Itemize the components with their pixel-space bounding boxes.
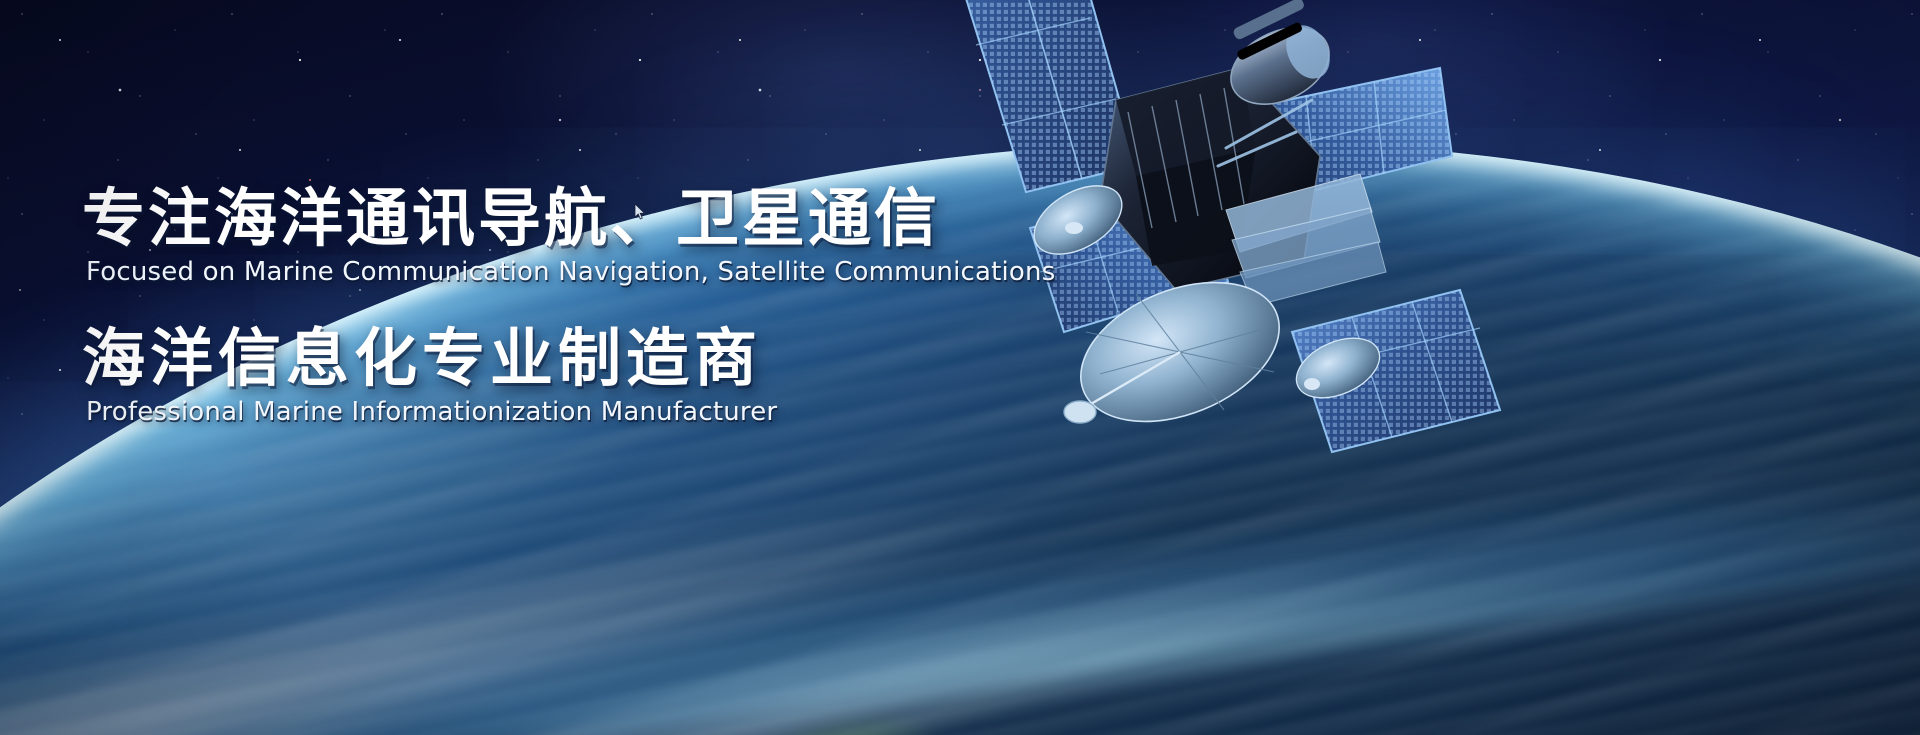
hero-banner: 专注海洋通讯导航、卫星通信 Focused on Marine Communic…	[0, 0, 1920, 735]
